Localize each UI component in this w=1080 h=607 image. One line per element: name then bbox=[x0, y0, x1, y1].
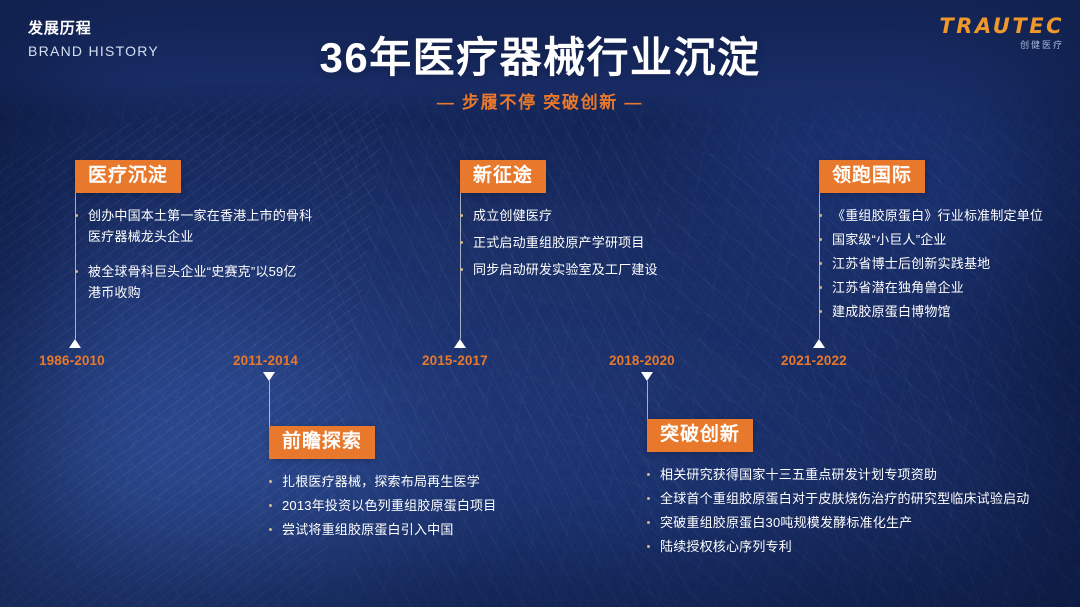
list-item-text: 全球首个重组胶原蛋白对于皮肤烧伤治疗的研究型临床试验启动 bbox=[660, 488, 1029, 509]
list-item-text: 扎根医疗器械，探索布局再生医学 bbox=[282, 471, 480, 492]
milestone-bullet-list: 相关研究获得国家十三五重点研发计划专项资助 全球首个重组胶原蛋白对于皮肤烧伤治疗… bbox=[647, 464, 1067, 557]
milestone-bullet-list: 扎根医疗器械，探索布局再生医学 2013年投资以色列重组胶原蛋白项目 尝试将重组… bbox=[269, 471, 569, 540]
timeline-marker-down-2 bbox=[263, 372, 275, 381]
timeline-year-2021-2022: 2021-2022 bbox=[781, 353, 847, 368]
milestone-card-1986-2010[interactable]: 医疗沉淀 创办中国本土第一家在香港上市的骨科 医疗器械龙头企业 被全球骨科巨头企… bbox=[75, 160, 375, 317]
list-item: 被全球骨科巨头企业“史赛克”以59亿 港币收购 bbox=[75, 261, 375, 303]
timeline-year-1986-2010: 1986-2010 bbox=[39, 353, 105, 368]
milestone-card-2015-2017[interactable]: 新征途 成立创健医疗 正式启动重组胶原产学研项目 同步启动研发实验室及工厂建设 bbox=[460, 160, 760, 286]
milestone-badge: 突破创新 bbox=[647, 419, 753, 452]
list-item: 相关研究获得国家十三五重点研发计划专项资助 bbox=[647, 464, 1067, 485]
milestone-card-2021-2022[interactable]: 领跑国际 《重组胶原蛋白》行业标准制定单位 国家级“小巨人”企业 江苏省博士后创… bbox=[819, 160, 1071, 325]
timeline-marker-up-1 bbox=[69, 339, 81, 348]
list-item-text: 江苏省博士后创新实践基地 bbox=[832, 253, 990, 274]
bullet-dot-icon bbox=[819, 310, 822, 313]
list-item-text: 2013年投资以色列重组胶原蛋白项目 bbox=[282, 495, 496, 516]
timeline-year-2011-2014: 2011-2014 bbox=[233, 353, 298, 368]
list-item-text: 被全球骨科巨头企业“史赛克”以59亿 港币收购 bbox=[88, 261, 297, 303]
milestone-badge: 新征途 bbox=[460, 160, 546, 193]
milestone-badge: 领跑国际 bbox=[819, 160, 925, 193]
list-item: 同步启动研发实验室及工厂建设 bbox=[460, 259, 760, 280]
page-subtitle: — 步履不停 突破创新 — bbox=[0, 88, 1080, 113]
list-item: 《重组胶原蛋白》行业标准制定单位 bbox=[819, 205, 1071, 226]
timeline-stem-4 bbox=[647, 381, 648, 423]
timeline-marker-down-4 bbox=[641, 372, 653, 381]
milestone-bullet-list: 《重组胶原蛋白》行业标准制定单位 国家级“小巨人”企业 江苏省博士后创新实践基地… bbox=[819, 205, 1071, 322]
bullet-dot-icon bbox=[269, 480, 272, 483]
brand-logo-wordmark: TRAUTEC bbox=[939, 16, 1064, 37]
list-item-text: 相关研究获得国家十三五重点研发计划专项资助 bbox=[660, 464, 937, 485]
list-item-text: 正式启动重组胶原产学研项目 bbox=[473, 232, 645, 253]
list-item: 成立创健医疗 bbox=[460, 205, 760, 226]
timeline-year-2018-2020: 2018-2020 bbox=[609, 353, 675, 368]
timeline-marker-up-3 bbox=[454, 339, 466, 348]
bullet-dot-icon bbox=[269, 504, 272, 507]
bullet-dot-icon bbox=[460, 241, 463, 244]
bullet-dot-icon bbox=[819, 238, 822, 241]
bullet-dot-icon bbox=[819, 286, 822, 289]
list-item-text: 尝试将重组胶原蛋白引入中国 bbox=[282, 519, 454, 540]
timeline-stem-2 bbox=[269, 381, 270, 430]
bullet-dot-icon bbox=[75, 270, 78, 273]
milestone-bullet-list: 成立创健医疗 正式启动重组胶原产学研项目 同步启动研发实验室及工厂建设 bbox=[460, 205, 760, 280]
page-title: 36年医疗器械行业沉淀 bbox=[0, 24, 1080, 85]
list-item: 尝试将重组胶原蛋白引入中国 bbox=[269, 519, 569, 540]
bullet-dot-icon bbox=[647, 521, 650, 524]
bullet-dot-icon bbox=[460, 268, 463, 271]
bullet-dot-icon bbox=[819, 214, 822, 217]
list-item: 创办中国本土第一家在香港上市的骨科 医疗器械龙头企业 bbox=[75, 205, 375, 247]
bullet-dot-icon bbox=[269, 528, 272, 531]
milestone-card-2011-2014[interactable]: 前瞻探索 扎根医疗器械，探索布局再生医学 2013年投资以色列重组胶原蛋白项目 … bbox=[269, 426, 569, 543]
bullet-dot-icon bbox=[819, 262, 822, 265]
list-item-text: 国家级“小巨人”企业 bbox=[832, 229, 947, 250]
list-item: 建成胶原蛋白博物馆 bbox=[819, 301, 1071, 322]
list-item: 江苏省潜在独角兽企业 bbox=[819, 277, 1071, 298]
list-item-text: 同步启动研发实验室及工厂建设 bbox=[473, 259, 658, 280]
list-item-text: 成立创健医疗 bbox=[473, 205, 552, 226]
list-item-text: 《重组胶原蛋白》行业标准制定单位 bbox=[832, 205, 1043, 226]
list-item-text: 江苏省潜在独角兽企业 bbox=[832, 277, 964, 298]
list-item-text: 陆续授权核心序列专利 bbox=[660, 536, 792, 557]
brand-logo: TRAUTEC 创健医疗 bbox=[939, 16, 1064, 50]
list-item: 突破重组胶原蛋白30吨规模发酵标准化生产 bbox=[647, 512, 1067, 533]
milestone-bullet-list: 创办中国本土第一家在香港上市的骨科 医疗器械龙头企业 被全球骨科巨头企业“史赛克… bbox=[75, 205, 375, 303]
bullet-dot-icon bbox=[647, 545, 650, 548]
list-item: 全球首个重组胶原蛋白对于皮肤烧伤治疗的研究型临床试验启动 bbox=[647, 488, 1067, 509]
list-item: 国家级“小巨人”企业 bbox=[819, 229, 1071, 250]
bullet-dot-icon bbox=[647, 497, 650, 500]
bullet-dot-icon bbox=[460, 214, 463, 217]
milestone-badge: 医疗沉淀 bbox=[75, 160, 181, 193]
timeline-year-2015-2017: 2015-2017 bbox=[422, 353, 488, 368]
list-item: 陆续授权核心序列专利 bbox=[647, 536, 1067, 557]
brand-logo-tagline: 创健医疗 bbox=[939, 41, 1064, 50]
milestone-card-2018-2020[interactable]: 突破创新 相关研究获得国家十三五重点研发计划专项资助 全球首个重组胶原蛋白对于皮… bbox=[647, 419, 1067, 560]
list-item-text: 创办中国本土第一家在香港上市的骨科 医疗器械龙头企业 bbox=[88, 205, 312, 247]
list-item: 扎根医疗器械，探索布局再生医学 bbox=[269, 471, 569, 492]
list-item: 2013年投资以色列重组胶原蛋白项目 bbox=[269, 495, 569, 516]
list-item: 正式启动重组胶原产学研项目 bbox=[460, 232, 760, 253]
list-item-text: 建成胶原蛋白博物馆 bbox=[832, 301, 951, 322]
bullet-dot-icon bbox=[647, 473, 650, 476]
milestone-badge: 前瞻探索 bbox=[269, 426, 375, 459]
list-item-text: 突破重组胶原蛋白30吨规模发酵标准化生产 bbox=[660, 512, 912, 533]
timeline-marker-up-5 bbox=[813, 339, 825, 348]
bullet-dot-icon bbox=[75, 214, 78, 217]
list-item: 江苏省博士后创新实践基地 bbox=[819, 253, 1071, 274]
